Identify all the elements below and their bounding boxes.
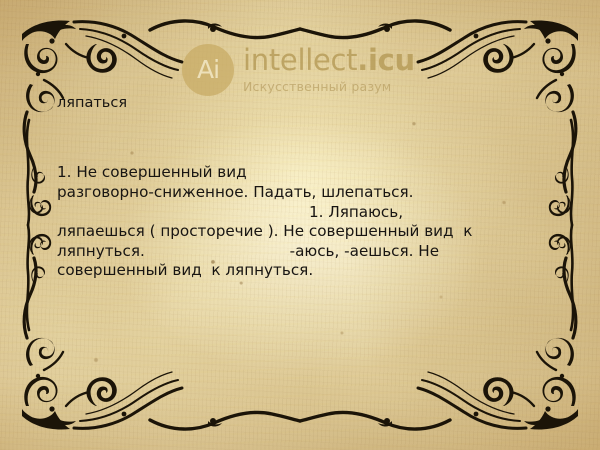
headword: ляпаться [57,96,533,111]
rail-top-left [150,21,300,38]
side-rail-right-upper [555,120,573,225]
side-rail-left-lower [27,225,45,330]
rail-bottom-left [150,412,300,429]
definition-line: 1. Ляпаюсь, [57,203,533,223]
rail-top-right [300,21,450,38]
definition-line: 1. Не совершенный вид [57,163,533,183]
entry-content: ляпаться 1. Не совершенный видразговорно… [57,66,533,311]
definition-body: 1. Не совершенный видразговорно-сниженно… [57,163,533,281]
dictionary-card: Ai intellect.icu Искусственный разум ляп… [0,0,600,450]
side-rail-left-upper [27,120,45,225]
side-rail-right-lower [555,225,573,330]
definition-line: ляпаешься ( просторечие ). Не совершенны… [57,222,533,242]
definition-line: ляпнуться. -аюсь, -аешься. Не [57,242,533,262]
definition-line: разговорно-сниженное. Падать, шлепаться. [57,183,533,203]
rail-bottom-right [300,412,450,429]
definition-line: совершенный вид к ляпнуться. [57,261,533,281]
